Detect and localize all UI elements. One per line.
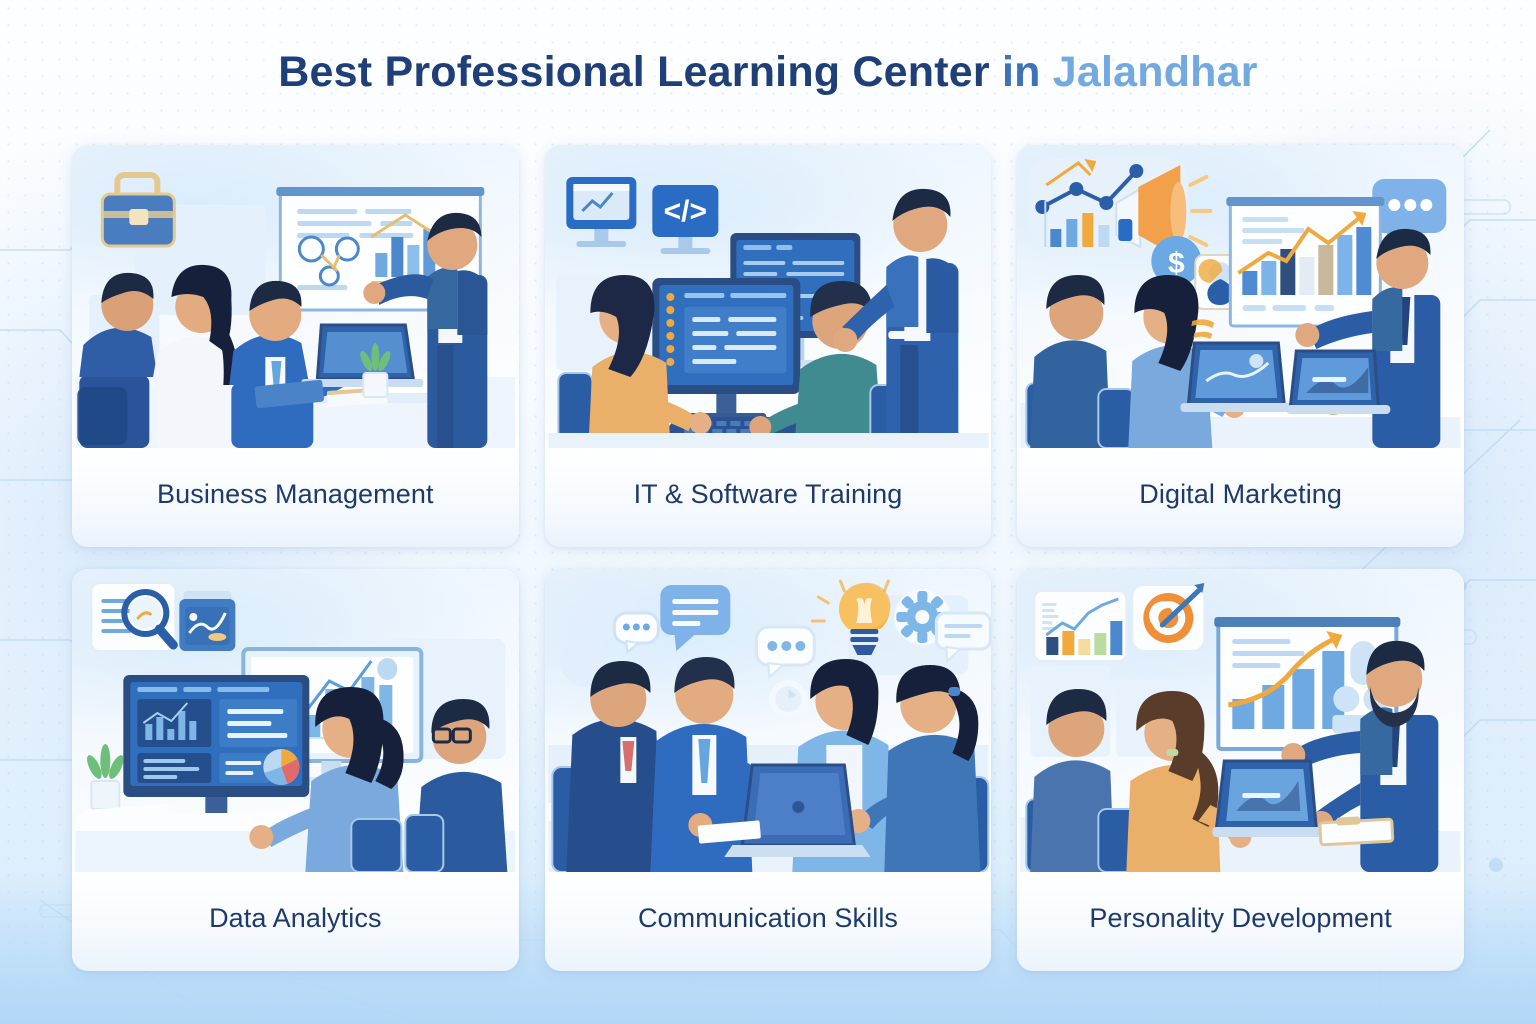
bar-chart-card-icon (1035, 591, 1127, 661)
card-business-management[interactable]: Business Management (72, 145, 519, 547)
speech-dots-icon-mid (756, 627, 814, 677)
card-personality-development[interactable]: Personality Development (1017, 569, 1464, 971)
chat-bubble-icon (660, 585, 730, 651)
clock-icon (769, 680, 807, 718)
laptop (1213, 761, 1325, 837)
laptop-left (1181, 343, 1293, 412)
card-label-data-analytics: Data Analytics (72, 872, 519, 971)
target-dart-icon (1133, 583, 1205, 651)
course-card-grid: Business Management (72, 145, 1464, 971)
card-label-it-software-training: IT & Software Training (545, 448, 992, 547)
code-brackets-icon: </> (652, 185, 718, 254)
page-title: Best Professional Learning Center in Jal… (0, 48, 1536, 97)
illustration-personality-development (1017, 569, 1464, 872)
illustration-business-management (72, 145, 519, 448)
illustration-data-analytics (72, 569, 519, 872)
illustration-digital-marketing: $ (1017, 145, 1464, 448)
briefcase-icon (102, 175, 174, 246)
card-label-personality-development: Personality Development (1017, 872, 1464, 971)
magnifier-document-icon (91, 583, 175, 651)
card-label-business-management: Business Management (72, 448, 519, 547)
svg-text:</>: </> (663, 195, 706, 228)
page-title-connector: in (1002, 48, 1041, 96)
chart-card-icon (179, 591, 235, 651)
card-data-analytics[interactable]: Data Analytics (72, 569, 519, 971)
card-it-software-training[interactable]: </> (545, 145, 992, 547)
monitor-dashboard-front (123, 675, 309, 827)
illustration-it-software-training: </> (545, 145, 992, 448)
plant (84, 744, 126, 809)
speech-dots-icon (614, 613, 658, 652)
presentation-screen (1227, 197, 1385, 326)
page-title-main: Best Professional Learning Center (278, 48, 990, 96)
card-digital-marketing[interactable]: $ (1017, 145, 1464, 547)
card-communication-skills[interactable]: Communication Skills (545, 569, 992, 971)
illustration-communication-skills (545, 569, 992, 872)
card-label-communication-skills: Communication Skills (545, 872, 992, 971)
monitor-front (652, 278, 800, 422)
page-title-city: Jalandhar (1053, 48, 1258, 96)
monitor-icon (566, 177, 636, 247)
laptop-right (1287, 351, 1391, 414)
card-label-digital-marketing: Digital Marketing (1017, 448, 1464, 547)
